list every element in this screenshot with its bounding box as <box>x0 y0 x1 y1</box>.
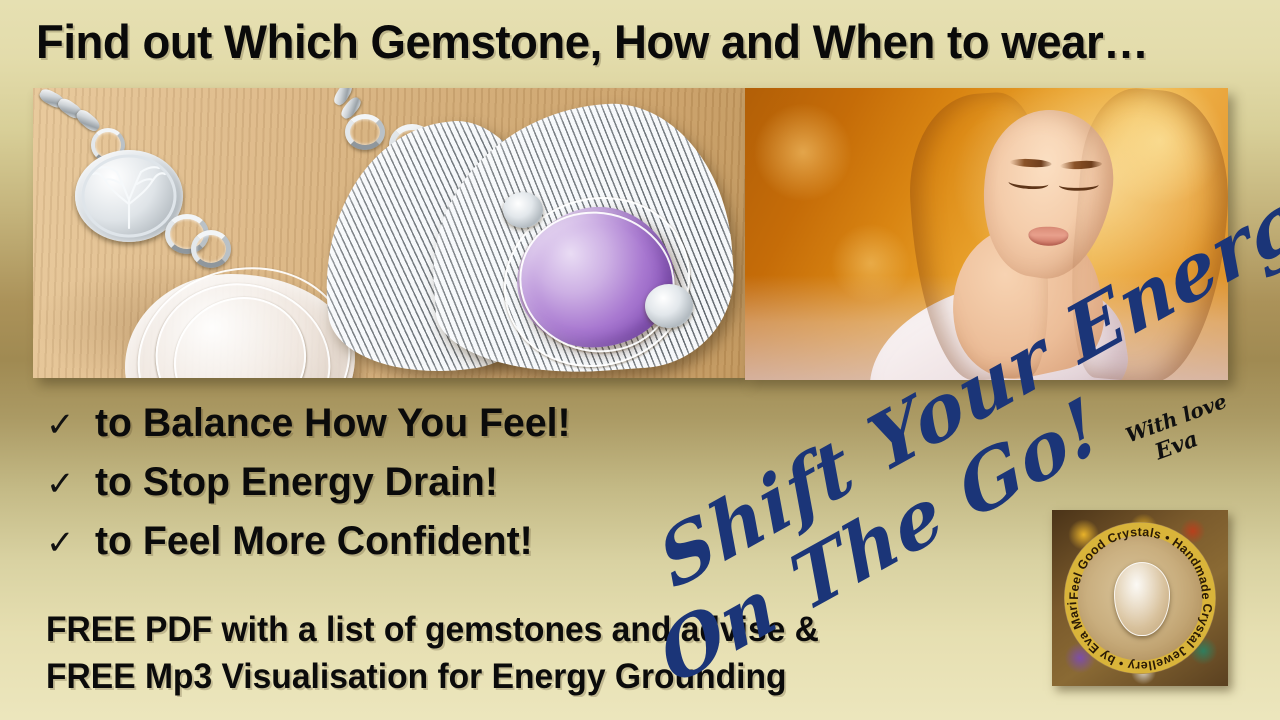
check-icon: ✓ <box>46 401 75 449</box>
brand-logo: Feel Good Crystals • Handmade Healing Cr… <box>1052 510 1228 686</box>
benefit-text: to Balance How You Feel! <box>95 398 571 448</box>
signature: With love Eva <box>1122 388 1239 473</box>
offer-text: FREE PDF with a list of gemstones and ad… <box>46 606 819 700</box>
lips <box>1028 226 1068 246</box>
benefits-list: ✓ to Balance How You Feel! ✓ to Stop Ene… <box>46 398 580 575</box>
logo-ring-bottom-text: Healing Crystal Jewellery • by Eva Maria… <box>1060 518 1215 673</box>
logo-ring-top-text: Feel Good Crystals • Handmade <box>1067 525 1213 600</box>
logo-ring-text: Feel Good Crystals • Handmade Healing Cr… <box>1060 518 1220 678</box>
page-title: Find out Which Gemstone, How and When to… <box>36 16 1219 68</box>
wire-coil <box>503 192 543 228</box>
benefit-text: to Feel More Confident! <box>95 516 533 566</box>
jump-ring <box>345 114 385 150</box>
list-item: ✓ to Stop Energy Drain! <box>46 457 580 508</box>
benefit-text: to Stop Energy Drain! <box>95 457 498 507</box>
woman-photo <box>745 88 1228 380</box>
offer-line-1: FREE PDF with a list of gemstones and ad… <box>46 606 819 653</box>
promo-banner: Find out Which Gemstone, How and When to… <box>0 0 1280 720</box>
offer-line-2: FREE Mp3 Visualisation for Energy Ground… <box>46 653 819 700</box>
jewellery-photo <box>33 88 745 378</box>
closed-eye <box>1008 176 1049 191</box>
list-item: ✓ to Balance How You Feel! <box>46 398 580 449</box>
jump-ring <box>191 230 231 268</box>
check-icon: ✓ <box>46 460 75 508</box>
list-item: ✓ to Feel More Confident! <box>46 516 580 567</box>
wire-coil <box>645 284 693 328</box>
check-icon: ✓ <box>46 519 75 567</box>
